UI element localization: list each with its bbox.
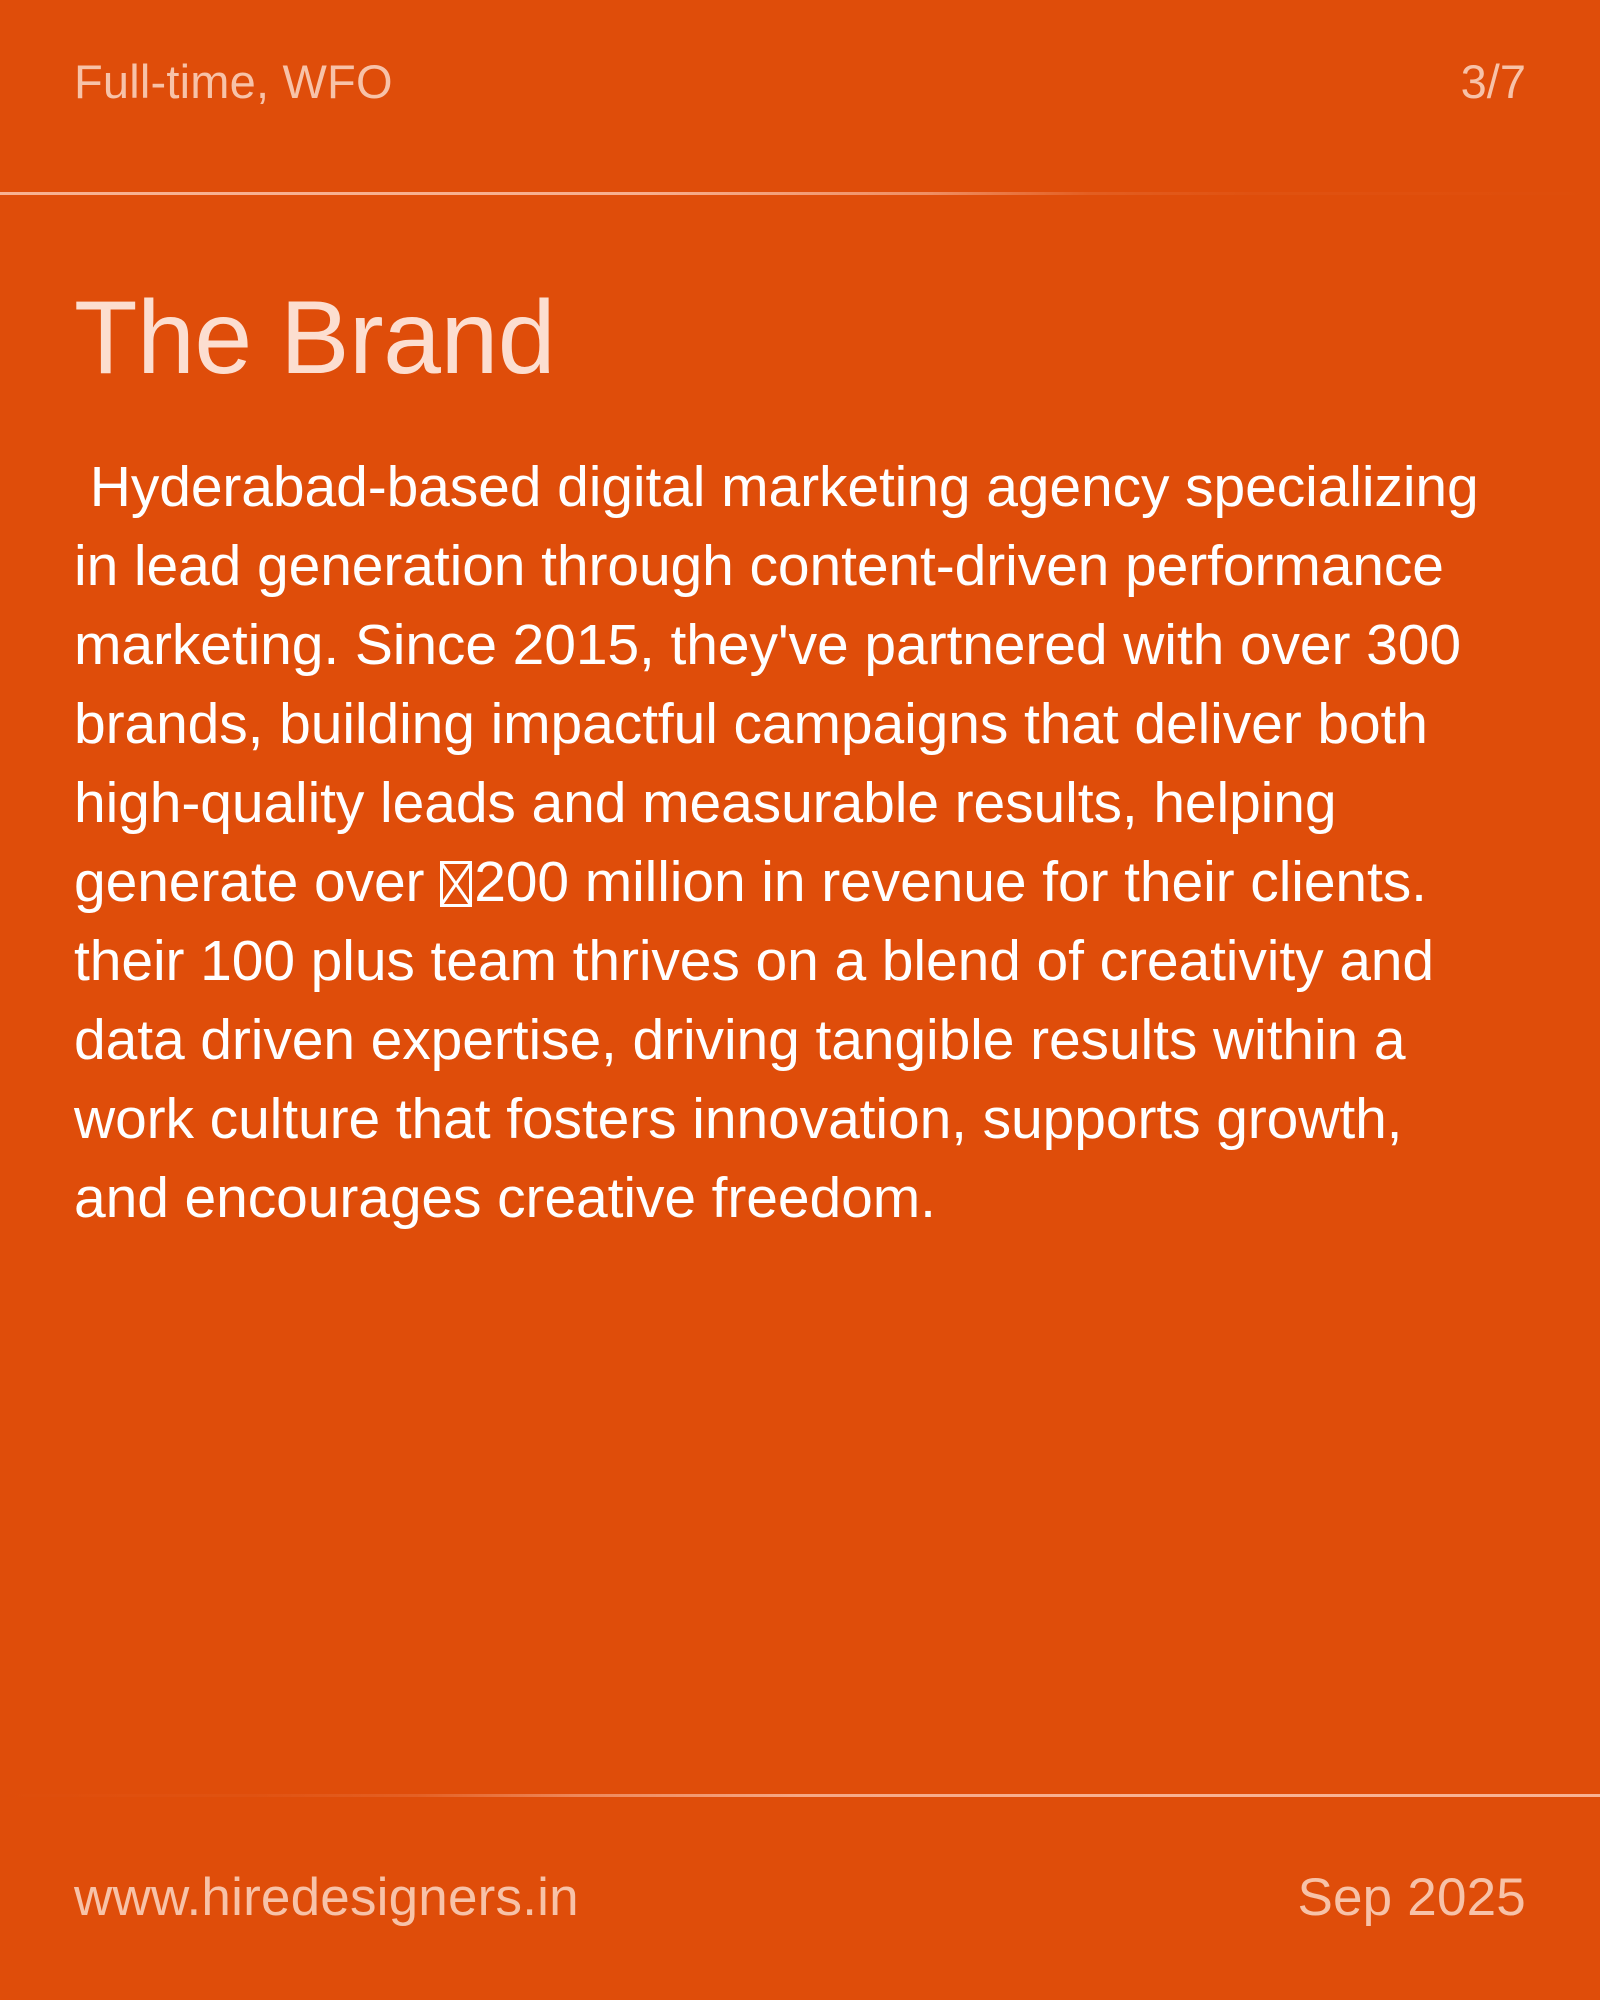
page-title: The Brand — [74, 196, 1526, 390]
rupee-missing-glyph-icon — [440, 861, 472, 907]
employment-type-label: Full-time, WFO — [74, 58, 393, 105]
job-post-slide: Full-time, WFO 3/7 The Brand Hyderabad-b… — [0, 0, 1600, 2000]
brand-description-part-one: Hyderabad-based digital marketing agency… — [74, 455, 1494, 914]
website-link[interactable]: www.hiredesigners.in — [74, 1871, 579, 1924]
slide-main: The Brand Hyderabad-based digital market… — [0, 196, 1600, 1794]
slide-footer: www.hiredesigners.in Sep 2025 — [0, 1794, 1600, 2000]
page-indicator: 3/7 — [1461, 58, 1526, 105]
slide-header: Full-time, WFO 3/7 — [0, 0, 1600, 196]
header-divider — [0, 192, 1600, 195]
footer-divider — [0, 1794, 1600, 1797]
brand-description: Hyderabad-based digital marketing agency… — [74, 390, 1504, 1238]
publish-date: Sep 2025 — [1297, 1871, 1526, 1924]
